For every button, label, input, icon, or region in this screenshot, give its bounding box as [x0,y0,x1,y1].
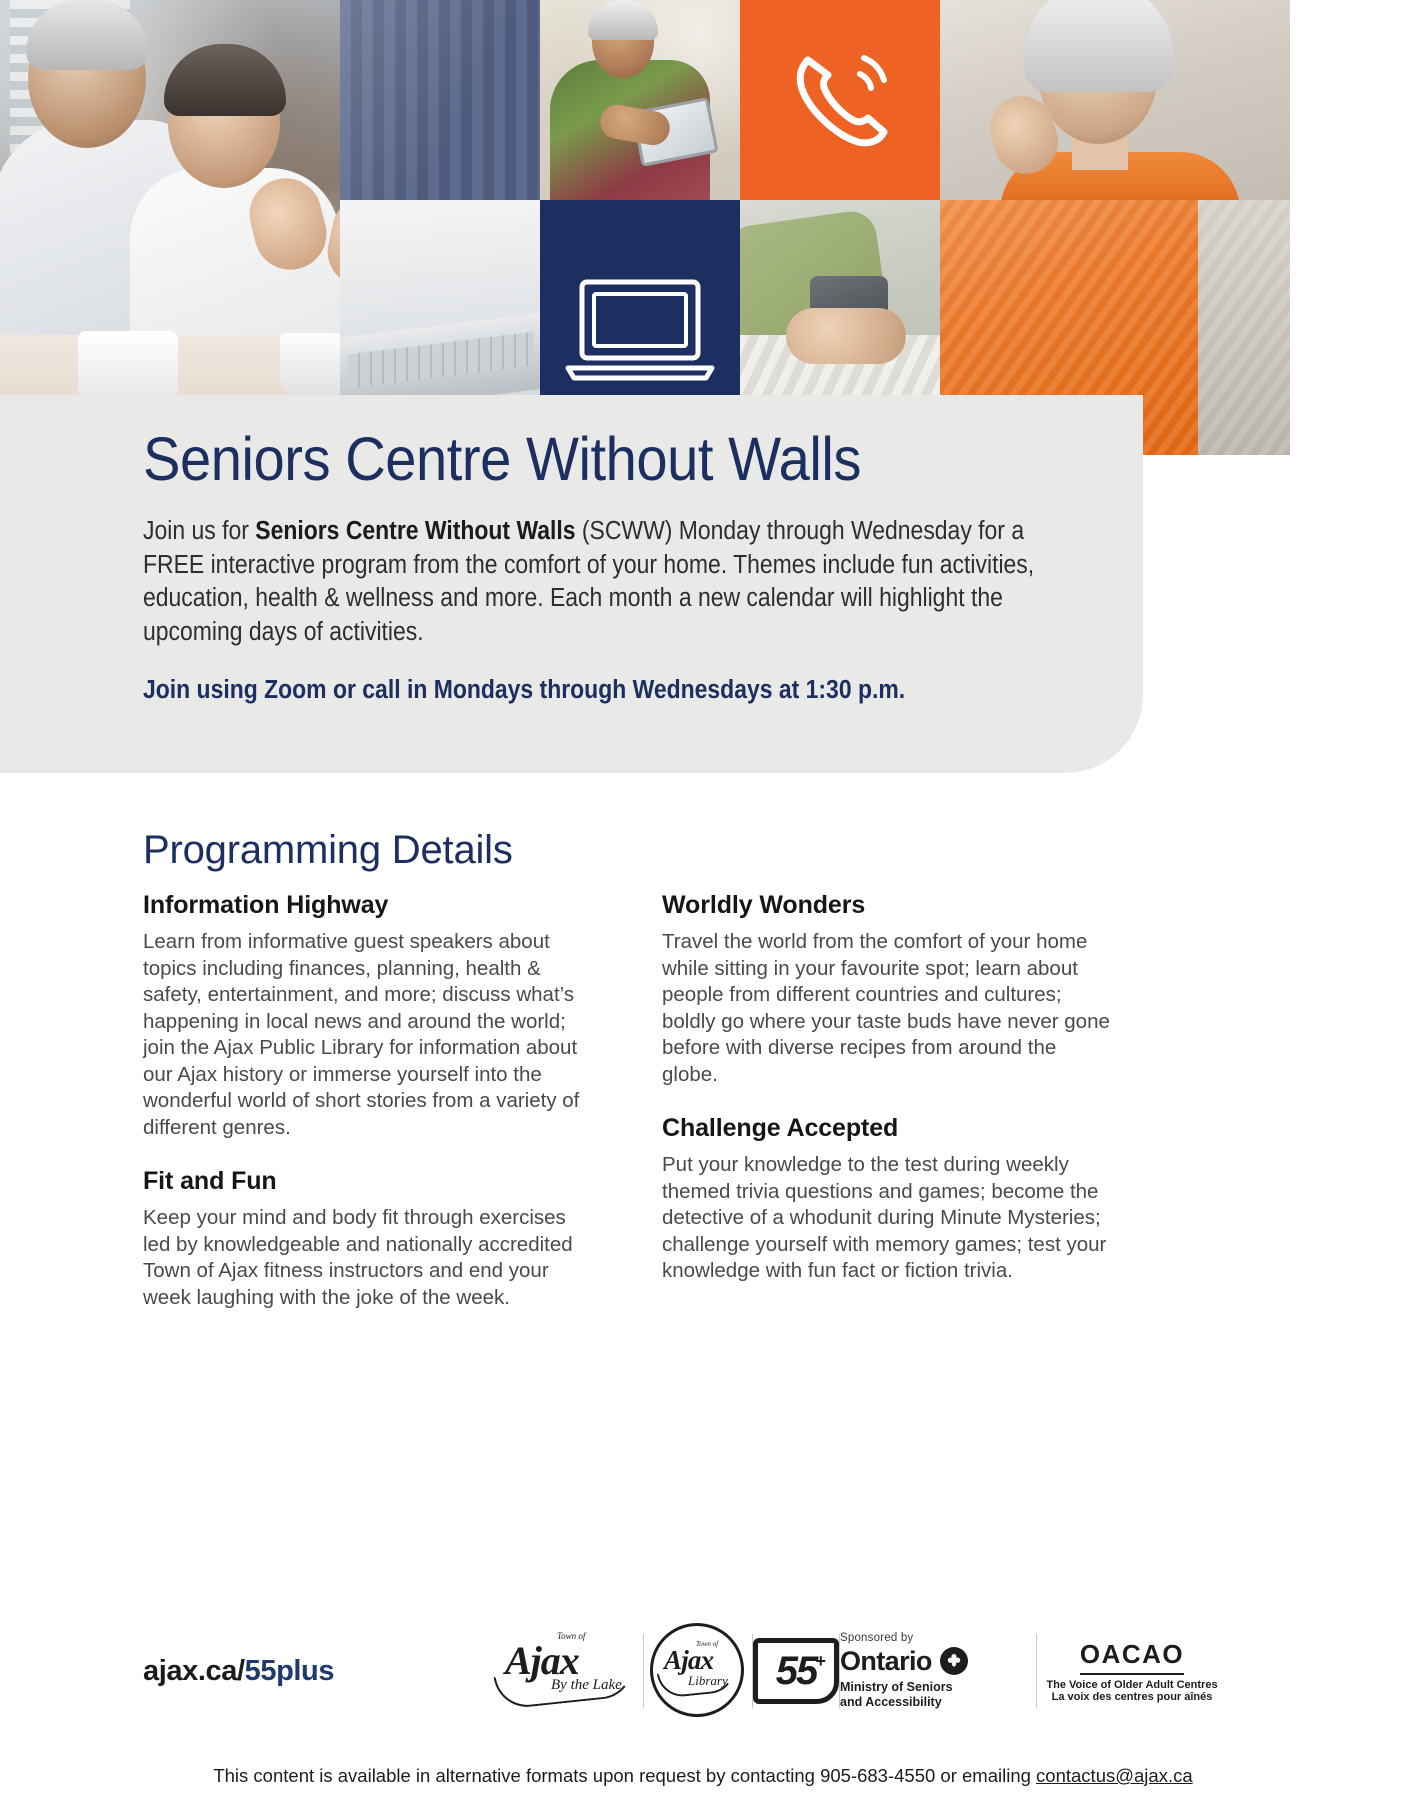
intro-panel: Seniors Centre Without Walls Join us for… [0,395,1143,773]
programming-details-section: Programming Details Information Highway … [143,828,1253,1312]
program-title: Fit and Fun [143,1167,598,1196]
ajax-library-tagline: Library [688,1673,728,1689]
url-path: 55plus [245,1655,334,1687]
badge-55-number: 55 [776,1651,817,1691]
website-url-link[interactable]: ajax.ca/55plus [143,1655,495,1688]
ministry-line-1: Ministry of Seniors [840,1680,1036,1695]
logo-ajax-library: Town of Ajax Library [644,1621,752,1721]
laptop-icon [560,268,720,388]
footer-text: This content is available in alternative… [213,1765,1036,1786]
logo-strip: ajax.ca/55plus Town of Ajax By the Lake … [143,1615,1273,1727]
oacao-tagline-en: The Voice of Older Adult Centres [1037,1679,1227,1691]
ministry-line-2: and Accessibility [840,1695,1036,1710]
intro-paragraph: Join us for Seniors Centre Without Walls… [143,515,1070,650]
trillium-icon [940,1647,968,1675]
program-body: Learn from informative guest speakers ab… [143,929,598,1141]
oacao-tagline-fr: La voix des centres pour aînés [1037,1691,1227,1703]
phone-handset-icon [780,40,900,160]
ontario-wordmark: Ontario [840,1646,932,1677]
page-title: Seniors Centre Without Walls [143,427,999,491]
footer-email-link[interactable]: contactus@ajax.ca [1036,1765,1193,1786]
intro-prefix: Join us for [143,517,255,545]
phone-handset-icon-tile [740,0,940,200]
program-title: Information Highway [143,891,598,920]
section-title-programming-details: Programming Details [143,828,1253,873]
logo-ontario-ministry: Sponsored by Ontario Ministry of Seniors… [840,1632,1036,1711]
program-item-worldly-wonders: Worldly Wonders Travel the world from th… [662,891,1117,1088]
photo-woman-with-tablet [540,0,740,200]
accessibility-footer: This content is available in alternative… [0,1765,1406,1787]
program-item-information-highway: Information Highway Learn from informati… [143,891,598,1141]
program-body: Travel the world from the comfort of you… [662,929,1117,1088]
logo-oacao: OACAO The Voice of Older Adult Centres L… [1037,1639,1227,1703]
details-left-column: Information Highway Learn from informati… [143,891,598,1312]
program-item-challenge-accepted: Challenge Accepted Put your knowledge to… [662,1114,1117,1285]
program-body: Keep your mind and body fit through exer… [143,1205,598,1311]
program-item-fit-and-fun: Fit and Fun Keep your mind and body fit … [143,1167,598,1311]
photo-senior-woman-on-phone [940,0,1290,200]
intro-bold-program-name: Seniors Centre Without Walls [255,517,575,545]
badge-55-plus-sign: + [815,1651,826,1672]
oacao-wordmark: OACAO [1080,1639,1184,1675]
logo-town-of-ajax: Town of Ajax By the Lake [495,1635,643,1707]
photo-window-blinds [340,0,540,200]
poster-page: Seniors Centre Without Walls Join us for… [0,0,1406,1819]
details-right-column: Worldly Wonders Travel the world from th… [662,891,1117,1312]
program-title: Worldly Wonders [662,891,1117,920]
logo-55-plus: 55 + [753,1638,839,1704]
program-title: Challenge Accepted [662,1114,1117,1143]
details-columns: Information Highway Learn from informati… [143,891,1253,1312]
ajax-lake-tagline: By the Lake [551,1677,622,1694]
program-body: Put your knowledge to the test during we… [662,1152,1117,1285]
sponsored-by-label: Sponsored by [840,1632,1036,1644]
hero-photo-collage [0,0,1290,455]
join-instructions: Join using Zoom or call in Mondays throu… [143,676,980,705]
url-domain: ajax.ca/ [143,1655,245,1687]
